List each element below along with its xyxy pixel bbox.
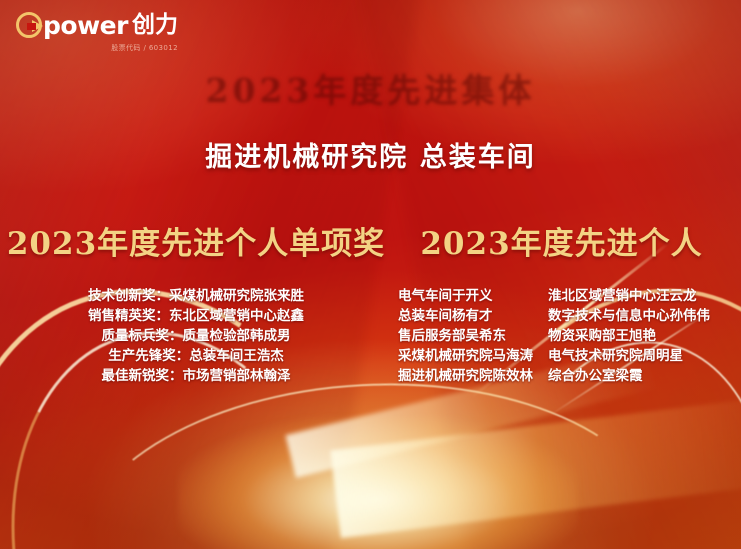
award-poster: power 创力 股票代码 / 603012 2023年度先进集体 掘进机械研究… (0, 0, 741, 549)
list-item: 采煤机械研究院马海涛 电气技术研究院周明星 (392, 346, 741, 366)
c-power-ring-icon (16, 12, 42, 38)
award-name: 质量标兵奖 (102, 326, 170, 346)
list-item: 电气车间于开义 淮北区域营销中心汪云龙 (392, 286, 741, 306)
recipient-left: 掘进机械研究院陈效林 (398, 366, 548, 386)
page-subtitle: 掘进机械研究院 总装车间 (0, 135, 741, 174)
list-item: 最佳新锐奖 ： 市场营销部林翰泽 (0, 366, 392, 386)
section-heading-individual: 2023年度先进个人 (392, 218, 741, 263)
brand-name-cn: 创力 (132, 14, 178, 37)
recipient-right: 综合办公室梁霞 (548, 366, 643, 386)
recipient-right: 数字技术与信息中心孙伟伟 (548, 306, 710, 326)
section-heading-individual-award: 2023年度先进个人单项奖 (0, 218, 392, 263)
list-item: 质量标兵奖 ： 质量检验部韩成男 (0, 326, 392, 346)
recipient: 总装车间王浩杰 (189, 346, 284, 366)
brand-logo: power 创力 股票代码 / 603012 (16, 12, 178, 53)
recipient-left: 售后服务部吴希东 (398, 326, 548, 346)
stock-code-label: 股票代码 / 603012 (16, 43, 178, 53)
award-name: 最佳新锐奖 (102, 366, 170, 386)
individual-award-list: 技术创新奖 ： 采煤机械研究院张来胜 销售精英奖 ： 东北区域营销中心赵鑫 质量… (0, 286, 392, 386)
poster-content: 2023年度先进集体 掘进机械研究院 总装车间 2023年度先进个人单项奖 20… (0, 0, 741, 549)
separator: ： (176, 346, 190, 366)
recipient-right: 淮北区域营销中心汪云龙 (548, 286, 697, 306)
separator: ： (156, 286, 170, 306)
brand-logo-row: power 创力 (16, 12, 178, 38)
individual-list: 电气车间于开义 淮北区域营销中心汪云龙 总装车间杨有才 数字技术与信息中心孙伟伟… (392, 286, 741, 386)
award-name: 生产先锋奖 (108, 346, 176, 366)
award-name: 销售精英奖 (88, 306, 156, 326)
recipient-right: 物资采购部王旭艳 (548, 326, 656, 346)
recipient-left: 总装车间杨有才 (398, 306, 548, 326)
list-item: 技术创新奖 ： 采煤机械研究院张来胜 (0, 286, 392, 306)
separator: ： (156, 306, 170, 326)
list-item: 掘进机械研究院陈效林 综合办公室梁霞 (392, 366, 741, 386)
recipient-right: 电气技术研究院周明星 (548, 346, 683, 366)
list-item: 售后服务部吴希东 物资采购部王旭艳 (392, 326, 741, 346)
section-headings: 2023年度先进个人单项奖 2023年度先进个人 (0, 218, 741, 263)
recipient: 市场营销部林翰泽 (183, 366, 291, 386)
separator: ： (169, 326, 183, 346)
recipient: 质量检验部韩成男 (183, 326, 291, 346)
separator: ： (169, 366, 183, 386)
award-lists: 技术创新奖 ： 采煤机械研究院张来胜 销售精英奖 ： 东北区域营销中心赵鑫 质量… (0, 286, 741, 386)
recipient-left: 电气车间于开义 (398, 286, 548, 306)
brand-name-en: power (43, 13, 128, 38)
list-item: 生产先锋奖 ： 总装车间王浩杰 (0, 346, 392, 366)
recipient: 采煤机械研究院张来胜 (169, 286, 304, 306)
recipient-left: 采煤机械研究院马海涛 (398, 346, 548, 366)
page-title: 2023年度先进集体 (0, 62, 741, 110)
list-item: 总装车间杨有才 数字技术与信息中心孙伟伟 (392, 306, 741, 326)
recipient: 东北区域营销中心赵鑫 (169, 306, 304, 326)
award-name: 技术创新奖 (88, 286, 156, 306)
list-item: 销售精英奖 ： 东北区域营销中心赵鑫 (0, 306, 392, 326)
